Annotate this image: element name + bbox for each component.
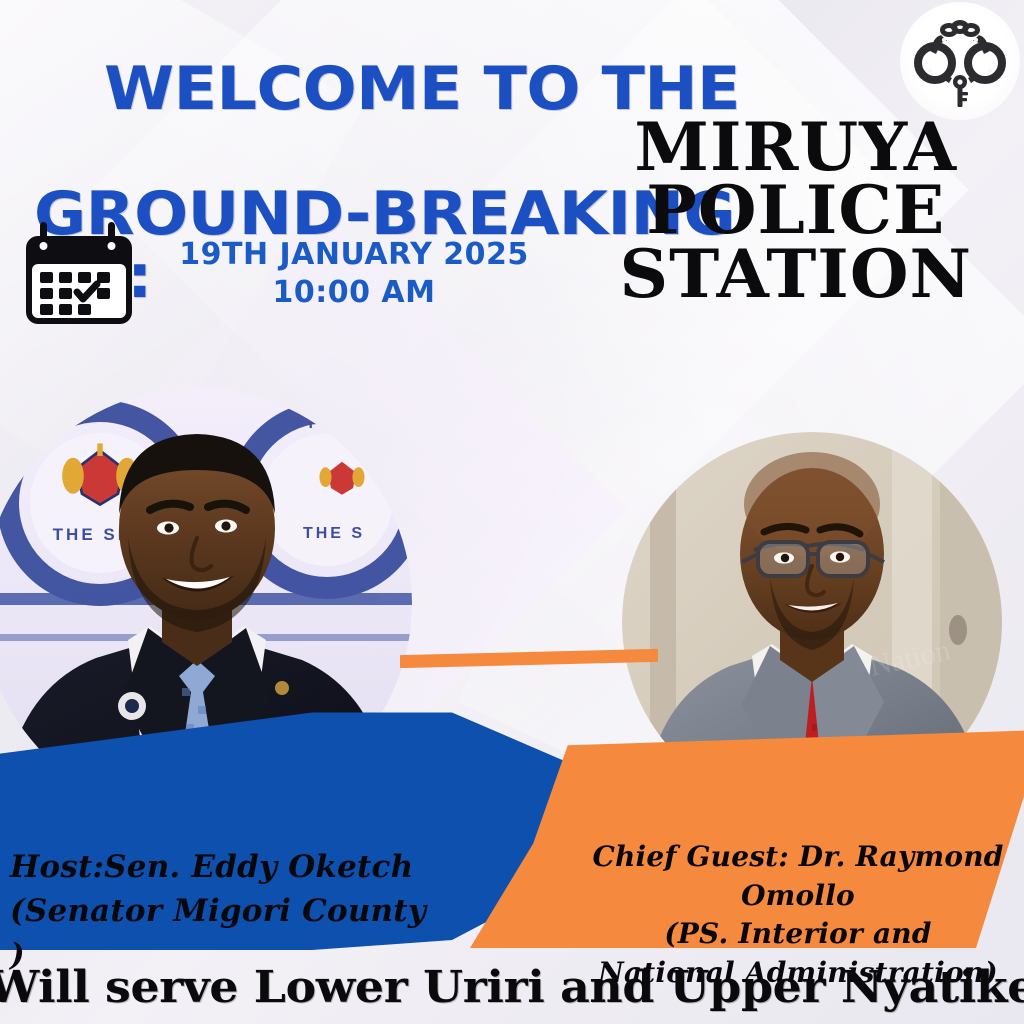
guest-caption-line-2: (PS. Interior and bbox=[548, 915, 1024, 954]
host-caption: Host:Sen. Eddy Oketch (Senator Migori Co… bbox=[10, 845, 440, 977]
poster-canvas: WELCOME TO THE GROUND-BREAKING OF: bbox=[0, 0, 1024, 1024]
footer-text: Will serve Lower Uriri and Upper Nyatike bbox=[0, 962, 1024, 1013]
handcuffs-badge bbox=[900, 2, 1020, 120]
svg-text:THE S: THE S bbox=[303, 525, 365, 542]
calendar-check-icon bbox=[18, 220, 140, 330]
event-date: 19TH JANUARY 2025 bbox=[158, 236, 550, 274]
svg-text:PA: PA bbox=[308, 415, 335, 432]
key-icon bbox=[943, 75, 977, 107]
guest-caption-line-1: Chief Guest: Dr. Raymond Omollo bbox=[548, 838, 1024, 915]
station-line-3: STATION bbox=[582, 243, 1010, 306]
station-line-2: POLICE bbox=[582, 179, 1010, 242]
host-caption-line-1: Host:Sen. Eddy Oketch bbox=[10, 845, 440, 889]
handcuffs-icon bbox=[908, 8, 1012, 112]
orange-accent-stripe bbox=[400, 649, 658, 668]
station-line-1: MIRUYA bbox=[582, 116, 1010, 179]
event-time: 10:00 AM bbox=[158, 274, 550, 312]
station-name: MIRUYA POLICE STATION bbox=[582, 116, 1010, 306]
event-datetime-text: 19TH JANUARY 2025 10:00 AM bbox=[158, 236, 550, 313]
event-date-block: 19TH JANUARY 2025 10:00 AM bbox=[18, 214, 558, 334]
